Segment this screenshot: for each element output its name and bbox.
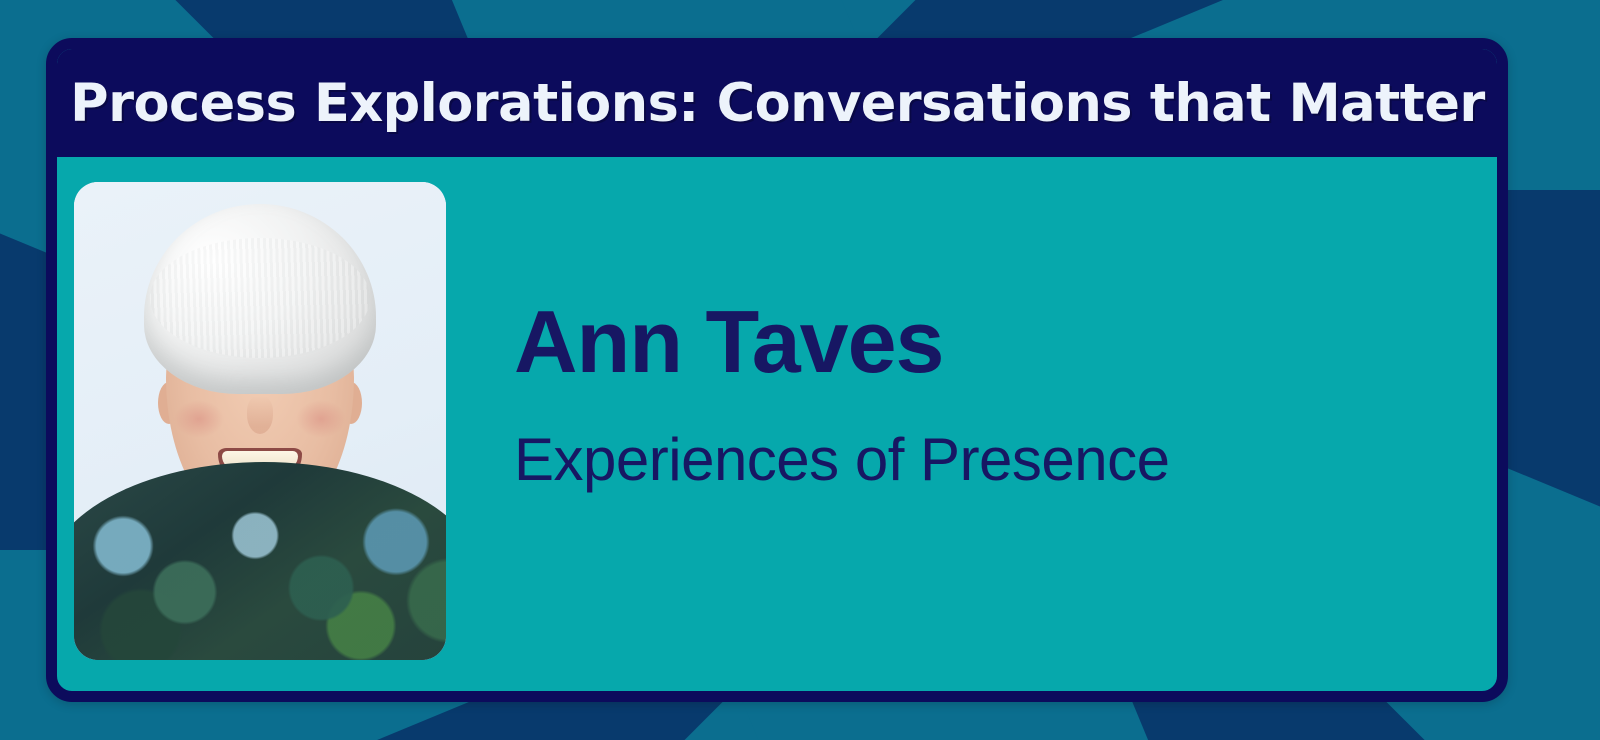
card-header: Process Explorations: Conversations that… bbox=[57, 49, 1497, 157]
speaker-photo bbox=[74, 182, 446, 660]
slide-canvas: Process Explorations: Conversations that… bbox=[0, 0, 1600, 740]
photo-cheek-right bbox=[296, 400, 346, 438]
series-title: Process Explorations: Conversations that… bbox=[70, 77, 1485, 130]
speaker-card: Process Explorations: Conversations that… bbox=[46, 38, 1508, 702]
speaker-name: Ann Taves bbox=[514, 297, 1457, 387]
portrait-image bbox=[74, 182, 446, 660]
speaker-text-block: Ann Taves Experiences of Presence bbox=[446, 157, 1497, 691]
photo-scarf bbox=[74, 462, 446, 660]
photo-nose bbox=[247, 396, 273, 434]
talk-title: Experiences of Presence bbox=[514, 428, 1457, 491]
card-body: Ann Taves Experiences of Presence bbox=[57, 157, 1497, 691]
photo-cheek-left bbox=[174, 400, 224, 438]
